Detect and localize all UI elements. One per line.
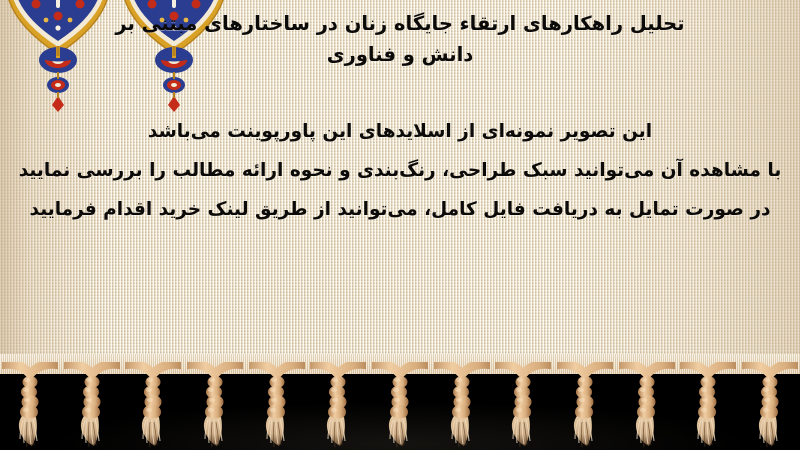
fringe-tassel-icon	[372, 362, 428, 450]
fringe-tassel-icon	[187, 362, 243, 450]
fringe-tassel-icon	[434, 362, 490, 450]
fringe-tassel-icon	[2, 362, 58, 450]
slide-body: این تصویر نمونه‌ای از اسلایدهای این پاور…	[0, 112, 800, 229]
fringe-tassel-icon	[619, 362, 675, 450]
slide-title: تحلیل راهکارهای ارتقاء جایگاه زنان در سا…	[0, 8, 800, 70]
fringe-tassel-icon	[64, 362, 120, 450]
slide-canvas: تحلیل راهکارهای ارتقاء جایگاه زنان در سا…	[0, 0, 800, 450]
fringe-tassel-icon	[249, 362, 305, 450]
fringe-tassel-icon	[125, 362, 181, 450]
fringe-tassel-icon	[310, 362, 366, 450]
title-line-1: تحلیل راهکارهای ارتقاء جایگاه زنان در سا…	[14, 8, 786, 39]
fringe-tassel-icon	[742, 362, 798, 450]
fringe-tassel-icon	[680, 362, 736, 450]
carpet-fringe	[0, 362, 800, 450]
title-line-2: دانش و فناوری	[14, 39, 786, 70]
fringe-tassel-icon	[557, 362, 613, 450]
fringe-tassel-icon	[495, 362, 551, 450]
body-line-2: با مشاهده آن می‌توانید سبک طراحی، رنگ‌بن…	[8, 151, 792, 190]
body-line-3: در صورت تمایل به دریافت فایل کامل، می‌تو…	[8, 190, 792, 229]
carpet-bottom-border	[0, 354, 800, 450]
body-line-1: این تصویر نمونه‌ای از اسلایدهای این پاور…	[8, 112, 792, 151]
